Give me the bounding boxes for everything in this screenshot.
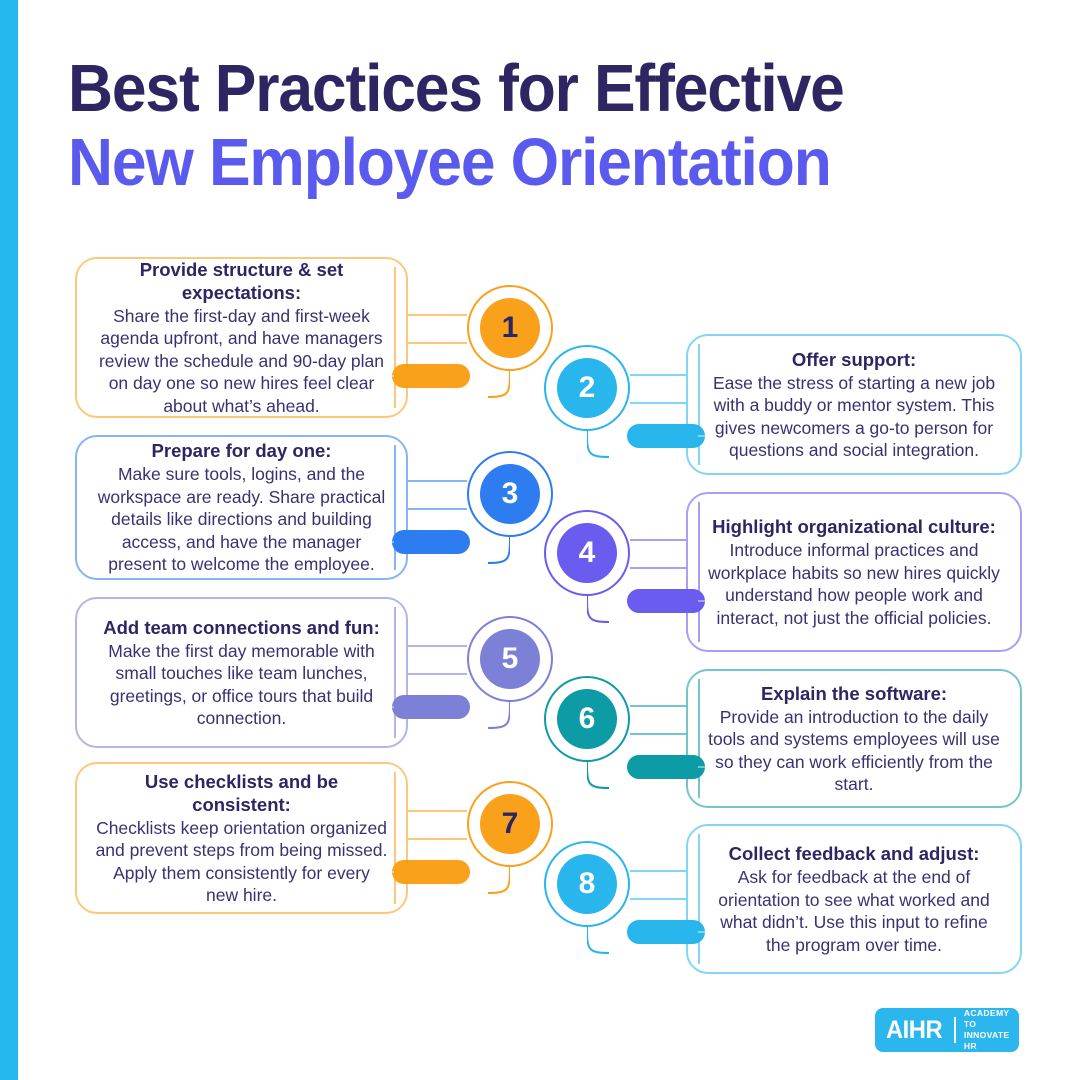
step-card-4: Highlight organizational culture:Introdu…: [686, 492, 1022, 652]
connector-pill: [392, 530, 470, 554]
step-card-content: Explain the software:Provide an introduc…: [706, 683, 1002, 794]
connector-elbow: [470, 863, 510, 899]
page-title: Best Practices for Effective New Employe…: [68, 52, 1008, 200]
connector-stub: [698, 766, 705, 768]
connector-stub: [392, 871, 394, 873]
step-node-8: 8: [544, 841, 630, 927]
connector-stub: [392, 375, 394, 377]
step-card-content: Prepare for day one:Make sure tools, log…: [95, 449, 388, 566]
step-number: 3: [480, 464, 540, 524]
step-heading: Offer support:: [706, 348, 1002, 371]
title-line-1: Best Practices for Effective: [68, 52, 942, 126]
step-card-6: Explain the software:Provide an introduc…: [686, 669, 1022, 808]
step-body: Make sure tools, logins, and the workspa…: [95, 463, 388, 576]
connector-line: [630, 733, 686, 735]
left-accent-stripe: [0, 0, 18, 1080]
step-body: Ease the stress of starting a new job wi…: [706, 372, 1002, 462]
title-line-2: New Employee Orientation: [68, 126, 942, 200]
step-heading: Collect feedback and adjust:: [706, 842, 1002, 865]
connector-line: [408, 810, 467, 812]
connector-pill: [627, 755, 705, 779]
step-heading: Explain the software:: [706, 682, 1002, 705]
connector-line: [408, 508, 467, 510]
step-heading: Use checklists and be consistent:: [95, 770, 388, 816]
connector-elbow: [470, 367, 510, 403]
step-card-content: Add team connections and fun:Make the fi…: [95, 611, 388, 734]
connector-line: [408, 314, 467, 316]
connector-stub: [698, 600, 705, 602]
connector-line: [630, 705, 686, 707]
card-notch-line: [698, 834, 700, 964]
step-card-5: Add team connections and fun:Make the fi…: [75, 597, 408, 748]
connector-stub: [698, 931, 705, 933]
step-number: 7: [480, 794, 540, 854]
card-notch-line: [698, 679, 700, 798]
card-notch-line: [698, 502, 700, 642]
step-card-content: Provide structure & set expectations:Sha…: [95, 271, 388, 404]
step-heading: Add team connections and fun:: [95, 616, 388, 639]
card-notch-line: [394, 607, 396, 738]
step-number: 1: [480, 298, 540, 358]
logo-tagline: ACADEMY TO INNOVATE HR: [964, 1008, 1019, 1052]
step-node-2: 2: [544, 345, 630, 431]
connector-pill: [392, 860, 470, 884]
step-card-content: Offer support:Ease the stress of startin…: [706, 348, 1002, 461]
connector-elbow: [587, 427, 627, 463]
step-number: 4: [557, 523, 617, 583]
step-node-1: 1: [467, 285, 553, 371]
step-card-content: Highlight organizational culture:Introdu…: [706, 506, 1002, 638]
infographic-canvas: Best Practices for Effective New Employe…: [0, 0, 1080, 1080]
connector-pill: [392, 695, 470, 719]
card-notch-line: [698, 344, 700, 465]
step-card-1: Provide structure & set expectations:Sha…: [75, 257, 408, 418]
step-number: 5: [480, 629, 540, 689]
logo-tagline-line-1: ACADEMY TO: [964, 1008, 1019, 1030]
connector-pill: [627, 589, 705, 613]
card-notch-line: [394, 772, 396, 904]
step-heading: Provide structure & set expectations:: [95, 258, 388, 304]
connector-line: [630, 870, 686, 872]
connector-elbow: [470, 698, 510, 734]
connector-stub: [698, 435, 705, 437]
logo-divider: [954, 1017, 956, 1043]
step-card-content: Collect feedback and adjust:Ask for feed…: [706, 838, 1002, 960]
connector-line: [630, 402, 686, 404]
step-heading: Prepare for day one:: [95, 439, 388, 462]
step-node-7: 7: [467, 781, 553, 867]
step-node-5: 5: [467, 616, 553, 702]
connector-line: [630, 539, 686, 541]
step-body: Checklists keep orientation organized an…: [95, 817, 388, 907]
step-number: 2: [557, 358, 617, 418]
connector-line: [408, 645, 467, 647]
connector-line: [408, 342, 467, 344]
step-node-3: 3: [467, 451, 553, 537]
step-node-4: 4: [544, 510, 630, 596]
connector-line: [408, 838, 467, 840]
step-number: 8: [557, 854, 617, 914]
step-body: Share the first-day and first-week agend…: [95, 305, 388, 418]
step-node-6: 6: [544, 676, 630, 762]
connector-pill: [627, 920, 705, 944]
connector-elbow: [587, 923, 627, 959]
connector-elbow: [470, 533, 510, 569]
step-body: Introduce informal practices and workpla…: [706, 539, 1002, 629]
step-body: Ask for feedback at the end of orientati…: [706, 866, 1002, 956]
connector-pill: [392, 364, 470, 388]
step-body: Provide an introduction to the daily too…: [706, 706, 1002, 796]
step-card-3: Prepare for day one:Make sure tools, log…: [75, 435, 408, 580]
step-card-content: Use checklists and be consistent:Checkli…: [95, 776, 388, 900]
step-heading: Highlight organizational culture:: [706, 515, 1002, 538]
connector-line: [630, 567, 686, 569]
aihr-logo: AIHR ACADEMY TO INNOVATE HR: [875, 1008, 1019, 1052]
connector-line: [630, 374, 686, 376]
connector-elbow: [587, 758, 627, 794]
connector-stub: [392, 706, 394, 708]
step-card-2: Offer support:Ease the stress of startin…: [686, 334, 1022, 475]
logo-wordmark: AIHR: [886, 1018, 942, 1043]
step-number: 6: [557, 689, 617, 749]
connector-line: [408, 673, 467, 675]
logo-tagline-line-2: INNOVATE HR: [964, 1030, 1019, 1052]
card-notch-line: [394, 267, 396, 408]
connector-line: [408, 480, 467, 482]
connector-line: [630, 898, 686, 900]
step-card-8: Collect feedback and adjust:Ask for feed…: [686, 824, 1022, 974]
connector-pill: [627, 424, 705, 448]
step-card-7: Use checklists and be consistent:Checkli…: [75, 762, 408, 914]
step-body: Make the first day memorable with small …: [95, 640, 388, 730]
connector-stub: [392, 541, 394, 543]
connector-elbow: [587, 592, 627, 628]
